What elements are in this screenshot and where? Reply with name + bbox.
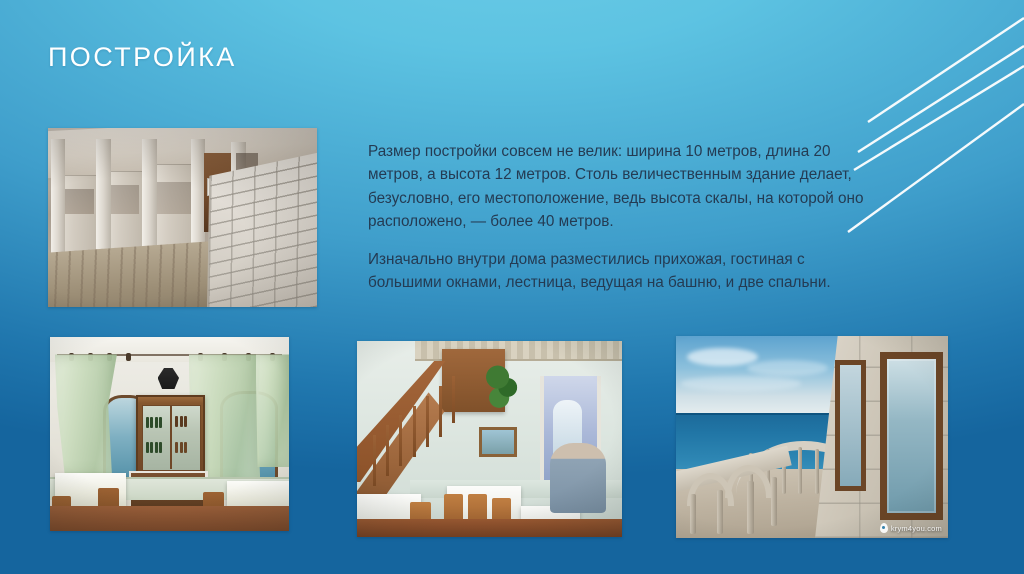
photo-ruined-interior <box>48 128 317 307</box>
watermark-text: krym4you.com <box>891 524 942 533</box>
body-paragraph-1: Размер постройки совсем не велик: ширина… <box>368 140 874 233</box>
body-paragraph-2: Изначально внутри дома разместились прих… <box>368 248 874 295</box>
page-title: ПОСТРОЙКА <box>48 42 237 73</box>
photo-staircase-hall <box>357 341 622 537</box>
slide-canvas: ПОСТРОЙКА Размер постройки совсем не вел… <box>0 0 1024 574</box>
photo-stone-balcony: krym4you.com <box>676 336 948 538</box>
watermark-logo-icon <box>880 523 888 533</box>
photo-dining-hall <box>50 337 289 531</box>
watermark: krym4you.com <box>880 523 942 533</box>
body-text-block: Размер постройки совсем не велик: ширина… <box>368 140 874 295</box>
